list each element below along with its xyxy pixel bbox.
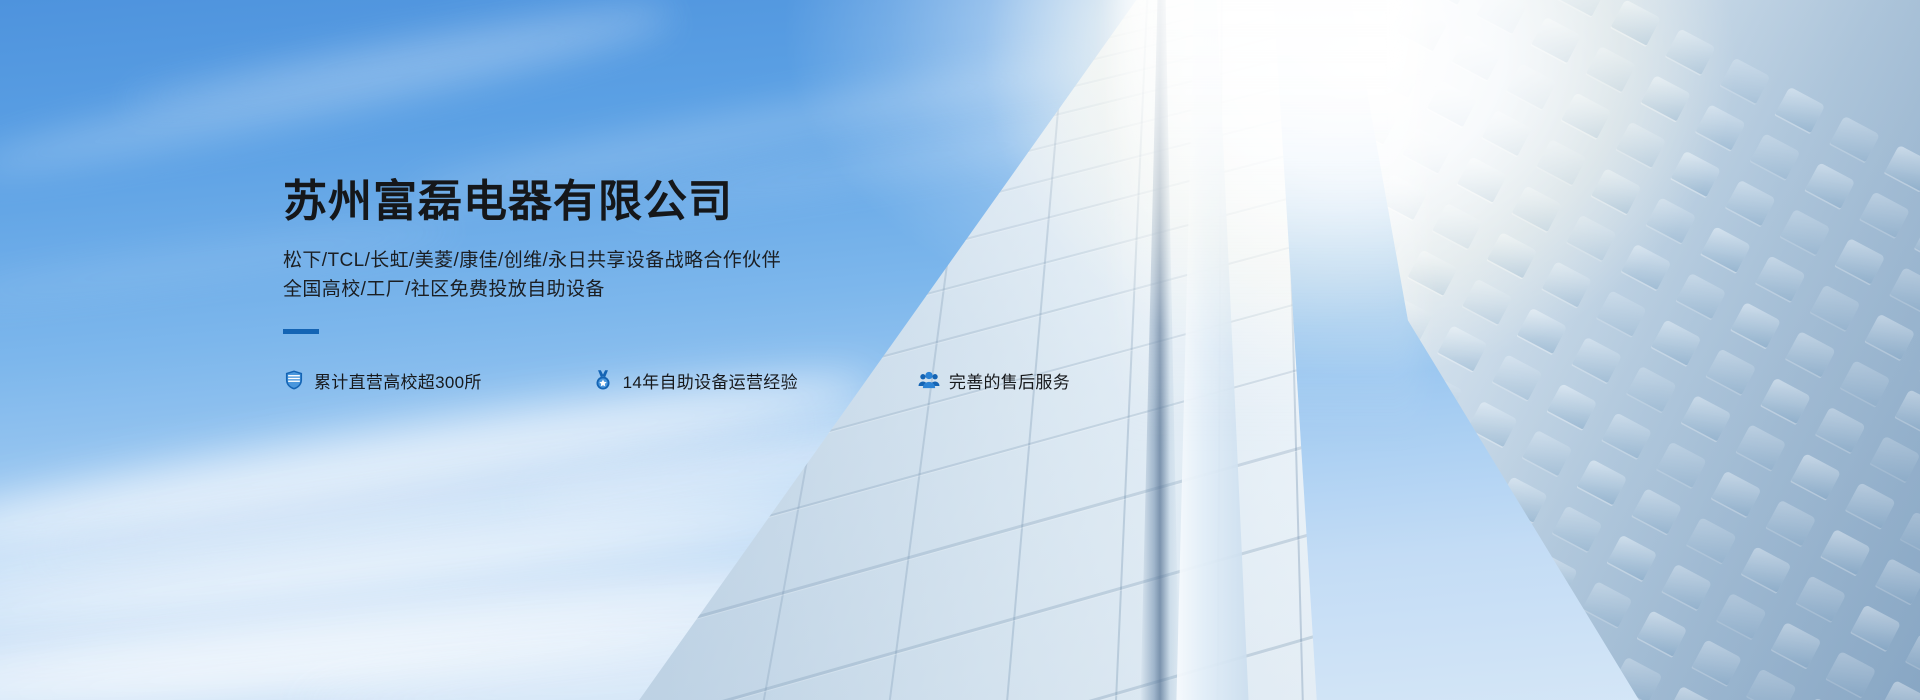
shield-icon <box>283 369 305 391</box>
users-icon <box>918 369 940 391</box>
subtitle-line-1: 松下/TCL/长虹/美菱/康佳/创维/永日共享设备战略合作伙伴 <box>283 246 1043 275</box>
feature-badge-service: 完善的售后服务 <box>918 368 1070 393</box>
feature-badge-colleges: 累计直营高校超300所 <box>283 368 482 393</box>
medal-icon <box>592 369 614 391</box>
feature-badge-list: 累计直营高校超300所 14年自助设备运营经验 <box>283 368 1043 393</box>
subtitle-line-2: 全国高校/工厂/社区免费投放自助设备 <box>283 275 1043 304</box>
hero-banner: 苏州富磊电器有限公司 松下/TCL/长虹/美菱/康佳/创维/永日共享设备战略合作… <box>0 0 1920 700</box>
feature-badge-label: 累计直营高校超300所 <box>314 368 482 393</box>
feature-badge-label: 完善的售后服务 <box>949 368 1070 393</box>
feature-badge-label: 14年自助设备运营经验 <box>623 368 798 393</box>
page-title: 苏州富磊电器有限公司 <box>283 176 1043 228</box>
feature-badge-experience: 14年自助设备运营经验 <box>592 368 798 393</box>
banner-content: 苏州富磊电器有限公司 松下/TCL/长虹/美菱/康佳/创维/永日共享设备战略合作… <box>283 176 1043 393</box>
accent-divider <box>283 329 319 334</box>
